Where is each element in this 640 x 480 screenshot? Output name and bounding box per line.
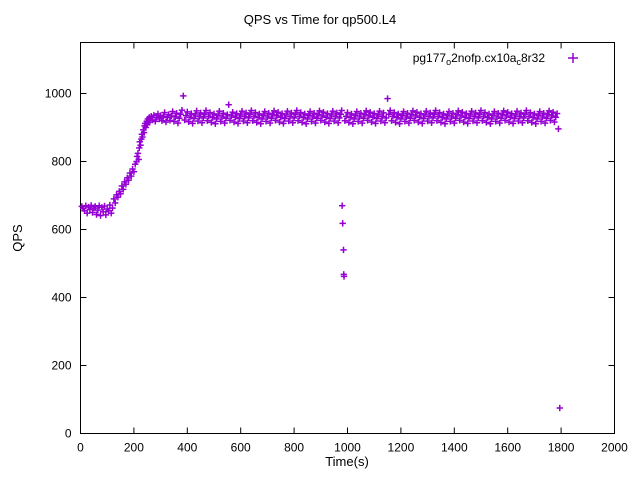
y-tick-label: 200: [51, 359, 71, 373]
x-tick-label: 2000: [601, 441, 628, 455]
x-tick-label: 1000: [334, 441, 361, 455]
x-axis-label: Time(s): [325, 454, 369, 469]
x-tick-label: 1800: [548, 441, 575, 455]
x-tick-label: 200: [124, 441, 144, 455]
x-tick-label: 1600: [494, 441, 521, 455]
legend-text: 2nofp.cx10a: [451, 51, 517, 65]
qps-vs-time-scatter-plot: QPS vs Time for qp500.L4 020040060080010…: [0, 0, 640, 480]
y-tick-label: 1000: [45, 87, 72, 101]
x-tick-label: 0: [77, 441, 84, 455]
x-tick-label: 600: [231, 441, 251, 455]
y-tick-label: 600: [51, 223, 71, 237]
plot-background: [0, 0, 640, 480]
x-tick-label: 800: [284, 441, 304, 455]
x-tick-label: 1200: [388, 441, 415, 455]
chart-title: QPS vs Time for qp500.L4: [244, 12, 396, 27]
legend-text: 8r32: [521, 51, 545, 65]
y-tick-label: 400: [51, 291, 71, 305]
x-tick-label: 1400: [441, 441, 468, 455]
y-tick-label: 800: [51, 155, 71, 169]
x-tick-label: 400: [177, 441, 197, 455]
chart-page: QPS vs Time for qp500.L4 020040060080010…: [0, 0, 640, 480]
y-axis-label: QPS: [10, 224, 25, 252]
legend-text: pg177: [413, 51, 447, 65]
legend-series-label: pg177o2nofp.cx10ac8r32: [413, 51, 546, 67]
y-tick-label: 0: [65, 427, 72, 441]
